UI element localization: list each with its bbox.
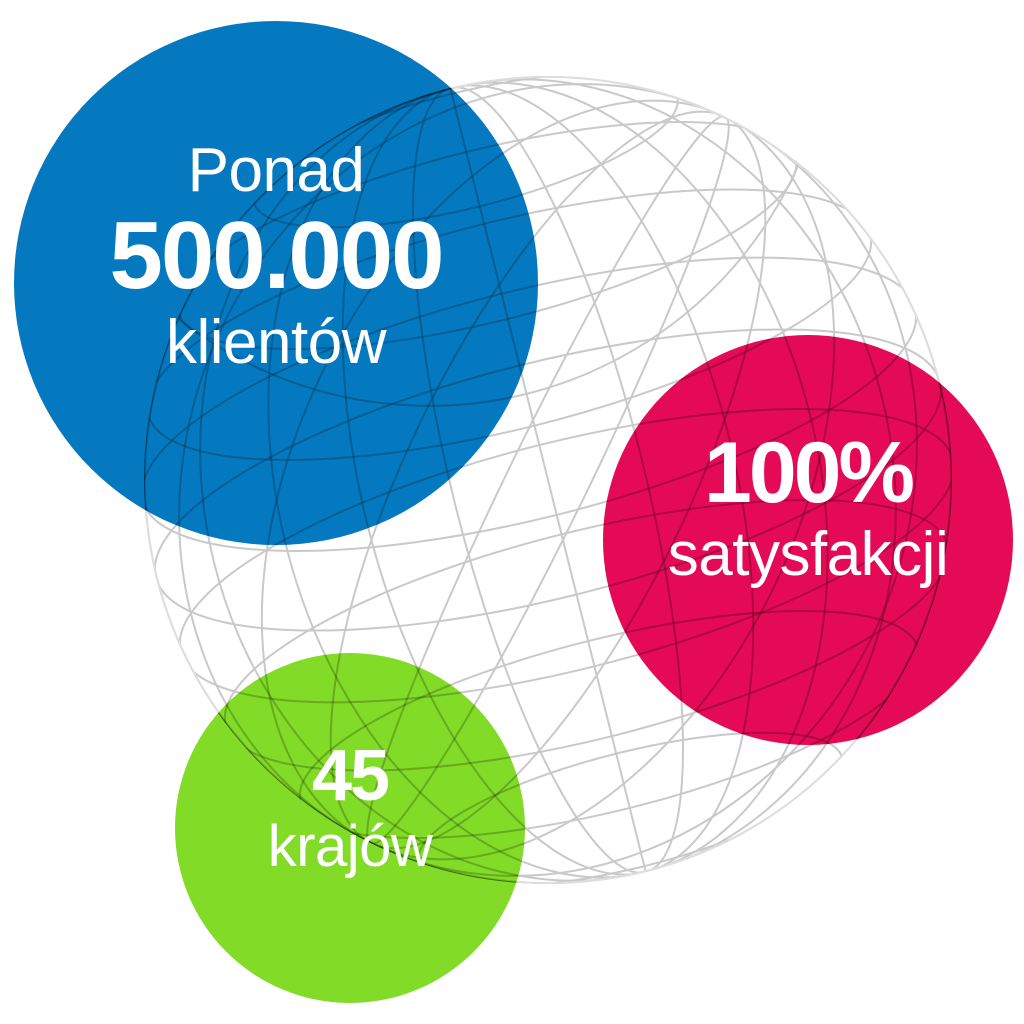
infographic-canvas: Ponad 500.000 klientów 100% satysfakcji …	[0, 0, 1024, 1024]
infographic-artwork	[0, 0, 1024, 1024]
